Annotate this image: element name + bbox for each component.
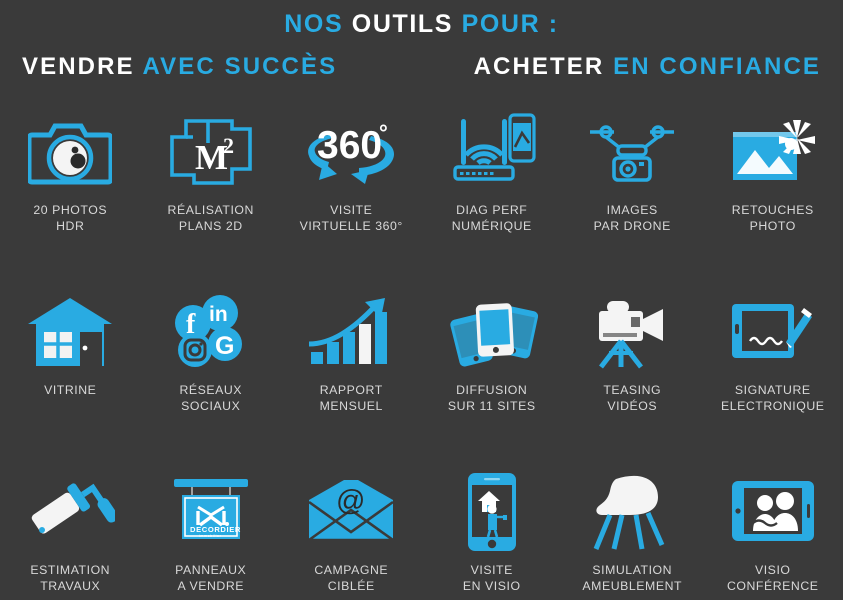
tile-label: RÉSEAUX SOCIAUX [179,382,242,414]
subtitle-row: VENDRE AVEC SUCCÈS ACHETER EN CONFIANCE [0,39,843,81]
tile-label: RAPPORT MENSUEL [320,382,383,414]
tile-label: VITRINE [44,382,96,398]
drone-icon [584,108,680,196]
subtitle-buy: ACHETER EN CONFIANCE [474,53,821,81]
tile-diag-perf-numerique[interactable]: DIAG PERF NUMÉRIQUE [422,102,563,282]
tile-label: SIMULATION AMEUBLEMENT [582,562,682,594]
degree-symbol: ° [379,120,388,145]
tile-realisation-plans-2d[interactable]: M 2 RÉALISATION PLANS 2D [141,102,282,282]
sign-sub-text: immobilier [199,534,222,538]
bar-chart-arrow-icon [305,288,397,376]
360-text: 360 [317,124,382,167]
tile-label: PANNEAUX A VENDRE [175,562,246,594]
tile-label: VISITE VIRTUELLE 360° [300,202,403,234]
tile-visite-virtuelle-360[interactable]: 360 ° VISITE VIRTUELLE 360° [281,102,422,282]
floorplan-m2-icon: M 2 [168,108,254,196]
title-part-outils: OUTILS [352,10,453,38]
360-degrees-icon: 360 ° [299,108,403,196]
tile-rapport-mensuel[interactable]: RAPPORT MENSUEL [281,282,422,462]
email-envelope-icon: @ [303,468,399,556]
house-shopfront-icon [24,288,116,376]
tile-reseaux-sociaux[interactable]: in f G RÉSEAUX SOCIAUX [141,282,282,462]
router-phone-icon [447,108,537,196]
for-sale-sign-icon: DECORDIER immobilier [170,468,252,556]
at-symbol: @ [336,485,365,517]
social-networks-icon: in f G [171,288,251,376]
subtitle-buy-white: ACHETER [474,53,605,80]
camera-icon [28,108,112,196]
subtitle-sell: VENDRE AVEC SUCCÈS [22,53,337,81]
tile-visio-conference[interactable]: VISIO CONFÉRENCE [703,462,843,600]
subtitle-sell-white: VENDRE [22,53,135,80]
tile-vitrine[interactable]: VITRINE [0,282,141,462]
chair-icon [586,468,678,556]
tile-label: RÉALISATION PLANS 2D [168,202,254,234]
tile-label: DIAG PERF NUMÉRIQUE [452,202,532,234]
tile-label: SIGNATURE ELECTRONIQUE [721,382,825,414]
signature-tablet-icon [728,288,818,376]
tile-label: ESTIMATION TRAVAUX [30,562,110,594]
tile-campagne-ciblee[interactable]: @ CAMPAGNE CIBLÉE [281,462,422,600]
tile-panneaux-a-vendre[interactable]: DECORDIER immobilier PANNEAUX A VENDRE [141,462,282,600]
tile-label: IMAGES PAR DRONE [594,202,671,234]
tile-label: VISITE EN VISIO [463,562,521,594]
subtitle-buy-blue: EN CONFIANCE [613,53,821,80]
tile-label: CAMPAGNE CIBLÉE [314,562,388,594]
tile-diffusion-sur-11-sites[interactable]: DIFFUSION SUR 11 SITES [422,282,563,462]
tile-estimation-travaux[interactable]: ESTIMATION TRAVAUX [0,462,141,600]
photo-retouch-icon [727,108,819,196]
subtitle-sell-blue: AVEC SUCCÈS [143,53,338,80]
instagram-badge [178,333,212,367]
tile-label: DIFFUSION SUR 11 SITES [448,382,536,414]
m2-exponent: 2 [223,133,234,158]
page-title: NOS OUTILS POUR : [0,11,843,39]
tile-images-par-drone[interactable]: IMAGES PAR DRONE [562,102,703,282]
tile-label: 20 PHOTOS HDR [33,202,107,234]
video-call-tablet-icon [728,468,818,556]
tile-label: TEASING VIDÉOS [603,382,661,414]
paint-roller-icon [25,468,115,556]
svg-text:G: G [215,332,234,360]
tile-label: RETOUCHES PHOTO [732,202,814,234]
phone-visit-icon [462,468,522,556]
tile-retouches-photo[interactable]: RETOUCHES PHOTO [703,102,843,282]
svg-text:in: in [209,303,228,326]
tile-signature-electronique[interactable]: SIGNATURE ELECTRONIQUE [703,282,843,462]
title-part-pour: POUR : [462,10,559,38]
tablets-icon [446,288,538,376]
tile-teasing-videos[interactable]: TEASING VIDÉOS [562,282,703,462]
tile-20-photos-hdr[interactable]: 20 PHOTOS HDR [0,102,141,282]
title-part-nos: NOS [284,10,343,38]
poster-root: NOS OUTILS POUR : VENDRE AVEC SUCCÈS ACH… [0,0,843,600]
tile-label: VISIO CONFÉRENCE [727,562,819,594]
tools-grid: 20 PHOTOS HDR M 2 RÉALISATION PLANS 2D [0,102,843,600]
tile-visite-en-visio[interactable]: VISITE EN VISIO [422,462,563,600]
header: NOS OUTILS POUR : VENDRE AVEC SUCCÈS ACH… [0,0,843,81]
tile-simulation-ameublement[interactable]: SIMULATION AMEUBLEMENT [562,462,703,600]
video-camera-tripod-icon [587,288,677,376]
sign-brand-text: DECORDIER [190,525,241,534]
